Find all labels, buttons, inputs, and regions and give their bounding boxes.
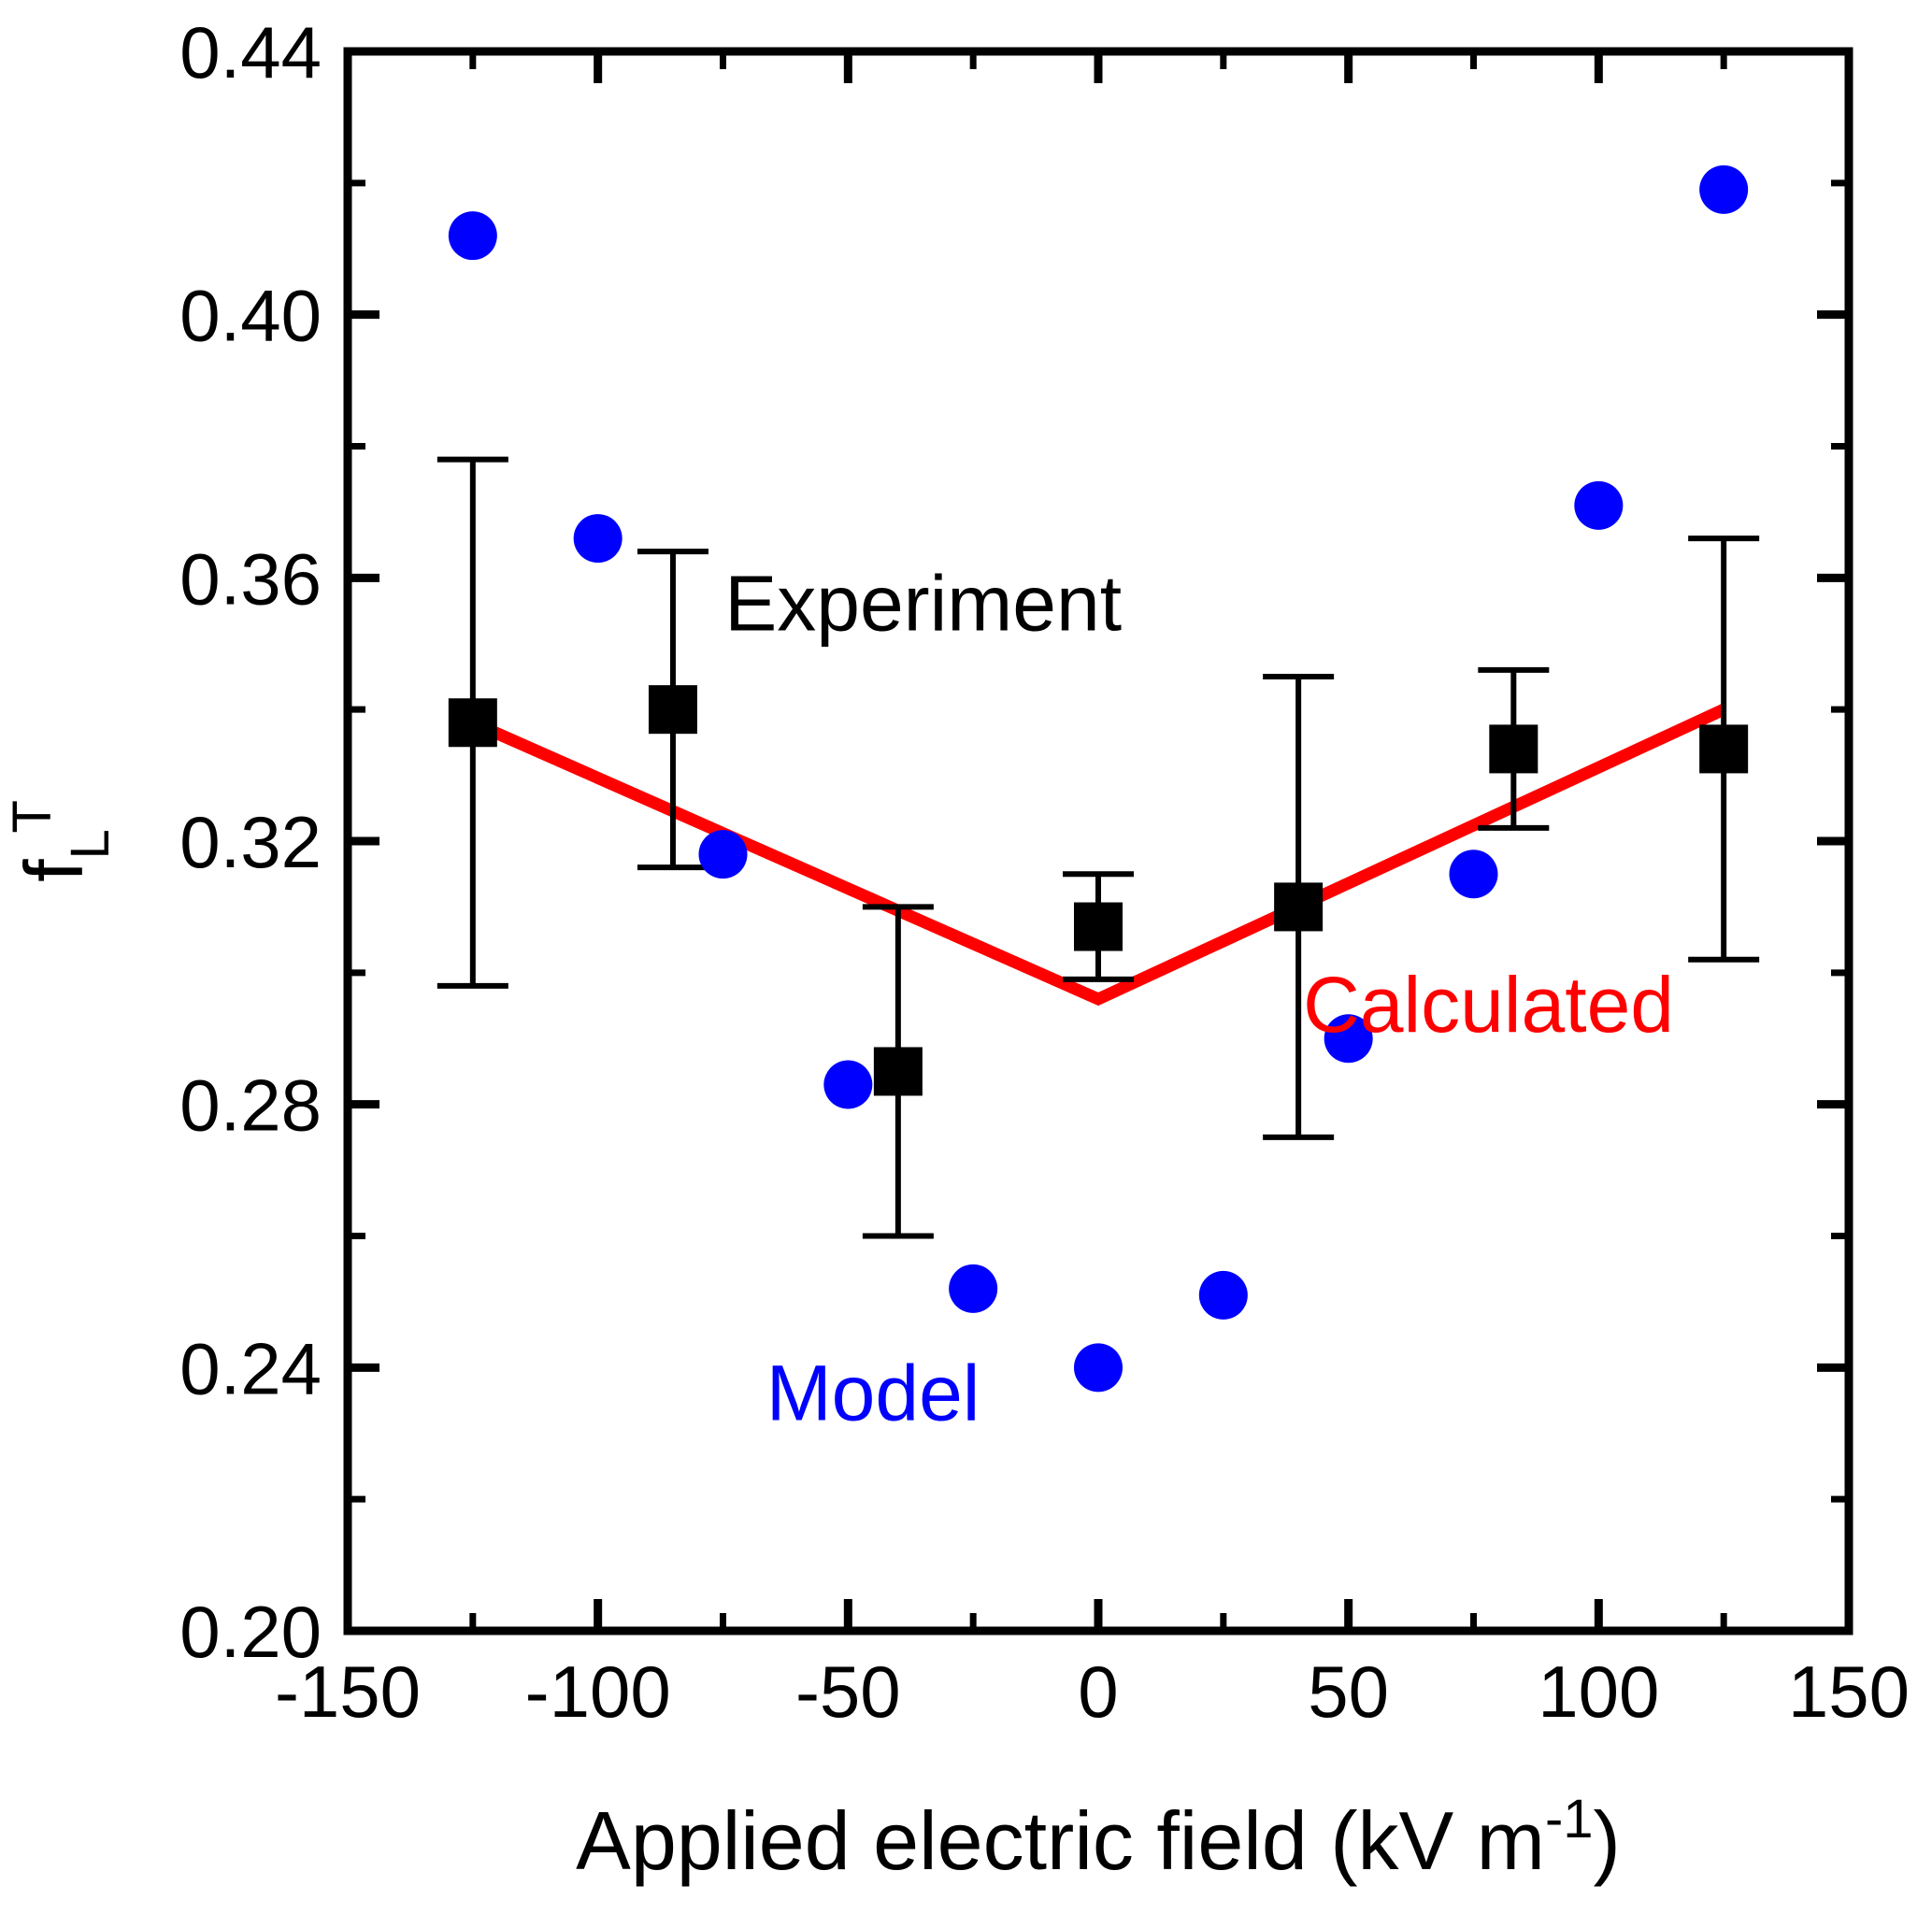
experiment-square-marker	[649, 685, 697, 734]
model-circle-marker	[823, 1061, 872, 1109]
x-tick-label: -100	[525, 1650, 671, 1733]
scatter-plot-svg: -150-100-50050100150 0.200.240.280.320.3…	[0, 0, 1932, 1914]
model-circle-marker	[1699, 165, 1748, 214]
annotation-experiment: Experiment	[724, 560, 1122, 648]
experiment-square-marker	[1074, 903, 1123, 951]
x-axis-title: Applied electric field (kV m-1)	[576, 1789, 1621, 1887]
model-circle-marker	[1574, 481, 1623, 530]
x-tick-label: 150	[1788, 1650, 1910, 1733]
x-tick-label: 0	[1078, 1650, 1118, 1733]
chart-figure: -150-100-50050100150 0.200.240.280.320.3…	[0, 0, 1932, 1914]
svg-text:Applied electric field (kV m-1: Applied electric field (kV m-1)	[576, 1789, 1621, 1887]
y-tick-label: 0.28	[179, 1064, 322, 1147]
annotation-model: Model	[766, 1350, 980, 1437]
y-tick-label: 0.32	[179, 801, 322, 883]
annotation-calculated: Calculated	[1303, 961, 1674, 1049]
experiment-square-marker	[1274, 882, 1323, 931]
experiment-square-marker	[874, 1047, 923, 1095]
x-axis-title-main: Applied electric field (kV m	[576, 1794, 1545, 1887]
y-axis-title-superscript: T	[2, 800, 63, 833]
model-circle-marker	[449, 211, 497, 260]
x-tick-label: -50	[795, 1650, 901, 1733]
y-tick-label: 0.24	[179, 1327, 322, 1409]
model-circle-marker	[574, 514, 623, 563]
y-axis-title-base: f	[7, 859, 100, 882]
x-axis-title-close: )	[1594, 1794, 1621, 1887]
model-circle-marker	[1199, 1271, 1248, 1320]
model-circle-marker	[1074, 1343, 1123, 1392]
x-tick-label: 50	[1308, 1650, 1389, 1733]
experiment-square-marker	[449, 698, 497, 747]
y-tick-label: 0.44	[179, 11, 322, 93]
model-circle-marker	[699, 830, 748, 878]
model-circle-marker	[949, 1264, 997, 1313]
y-tick-label: 0.36	[179, 537, 322, 620]
x-axis-title-superscript: -1	[1545, 1789, 1594, 1850]
model-circle-marker	[1450, 850, 1498, 898]
experiment-square-marker	[1489, 724, 1538, 773]
y-tick-label: 0.40	[179, 275, 322, 357]
y-axis-title-subscript: L	[60, 830, 121, 859]
x-tick-label: 100	[1538, 1650, 1659, 1733]
y-tick-label: 0.20	[179, 1591, 322, 1673]
experiment-square-marker	[1699, 724, 1748, 773]
